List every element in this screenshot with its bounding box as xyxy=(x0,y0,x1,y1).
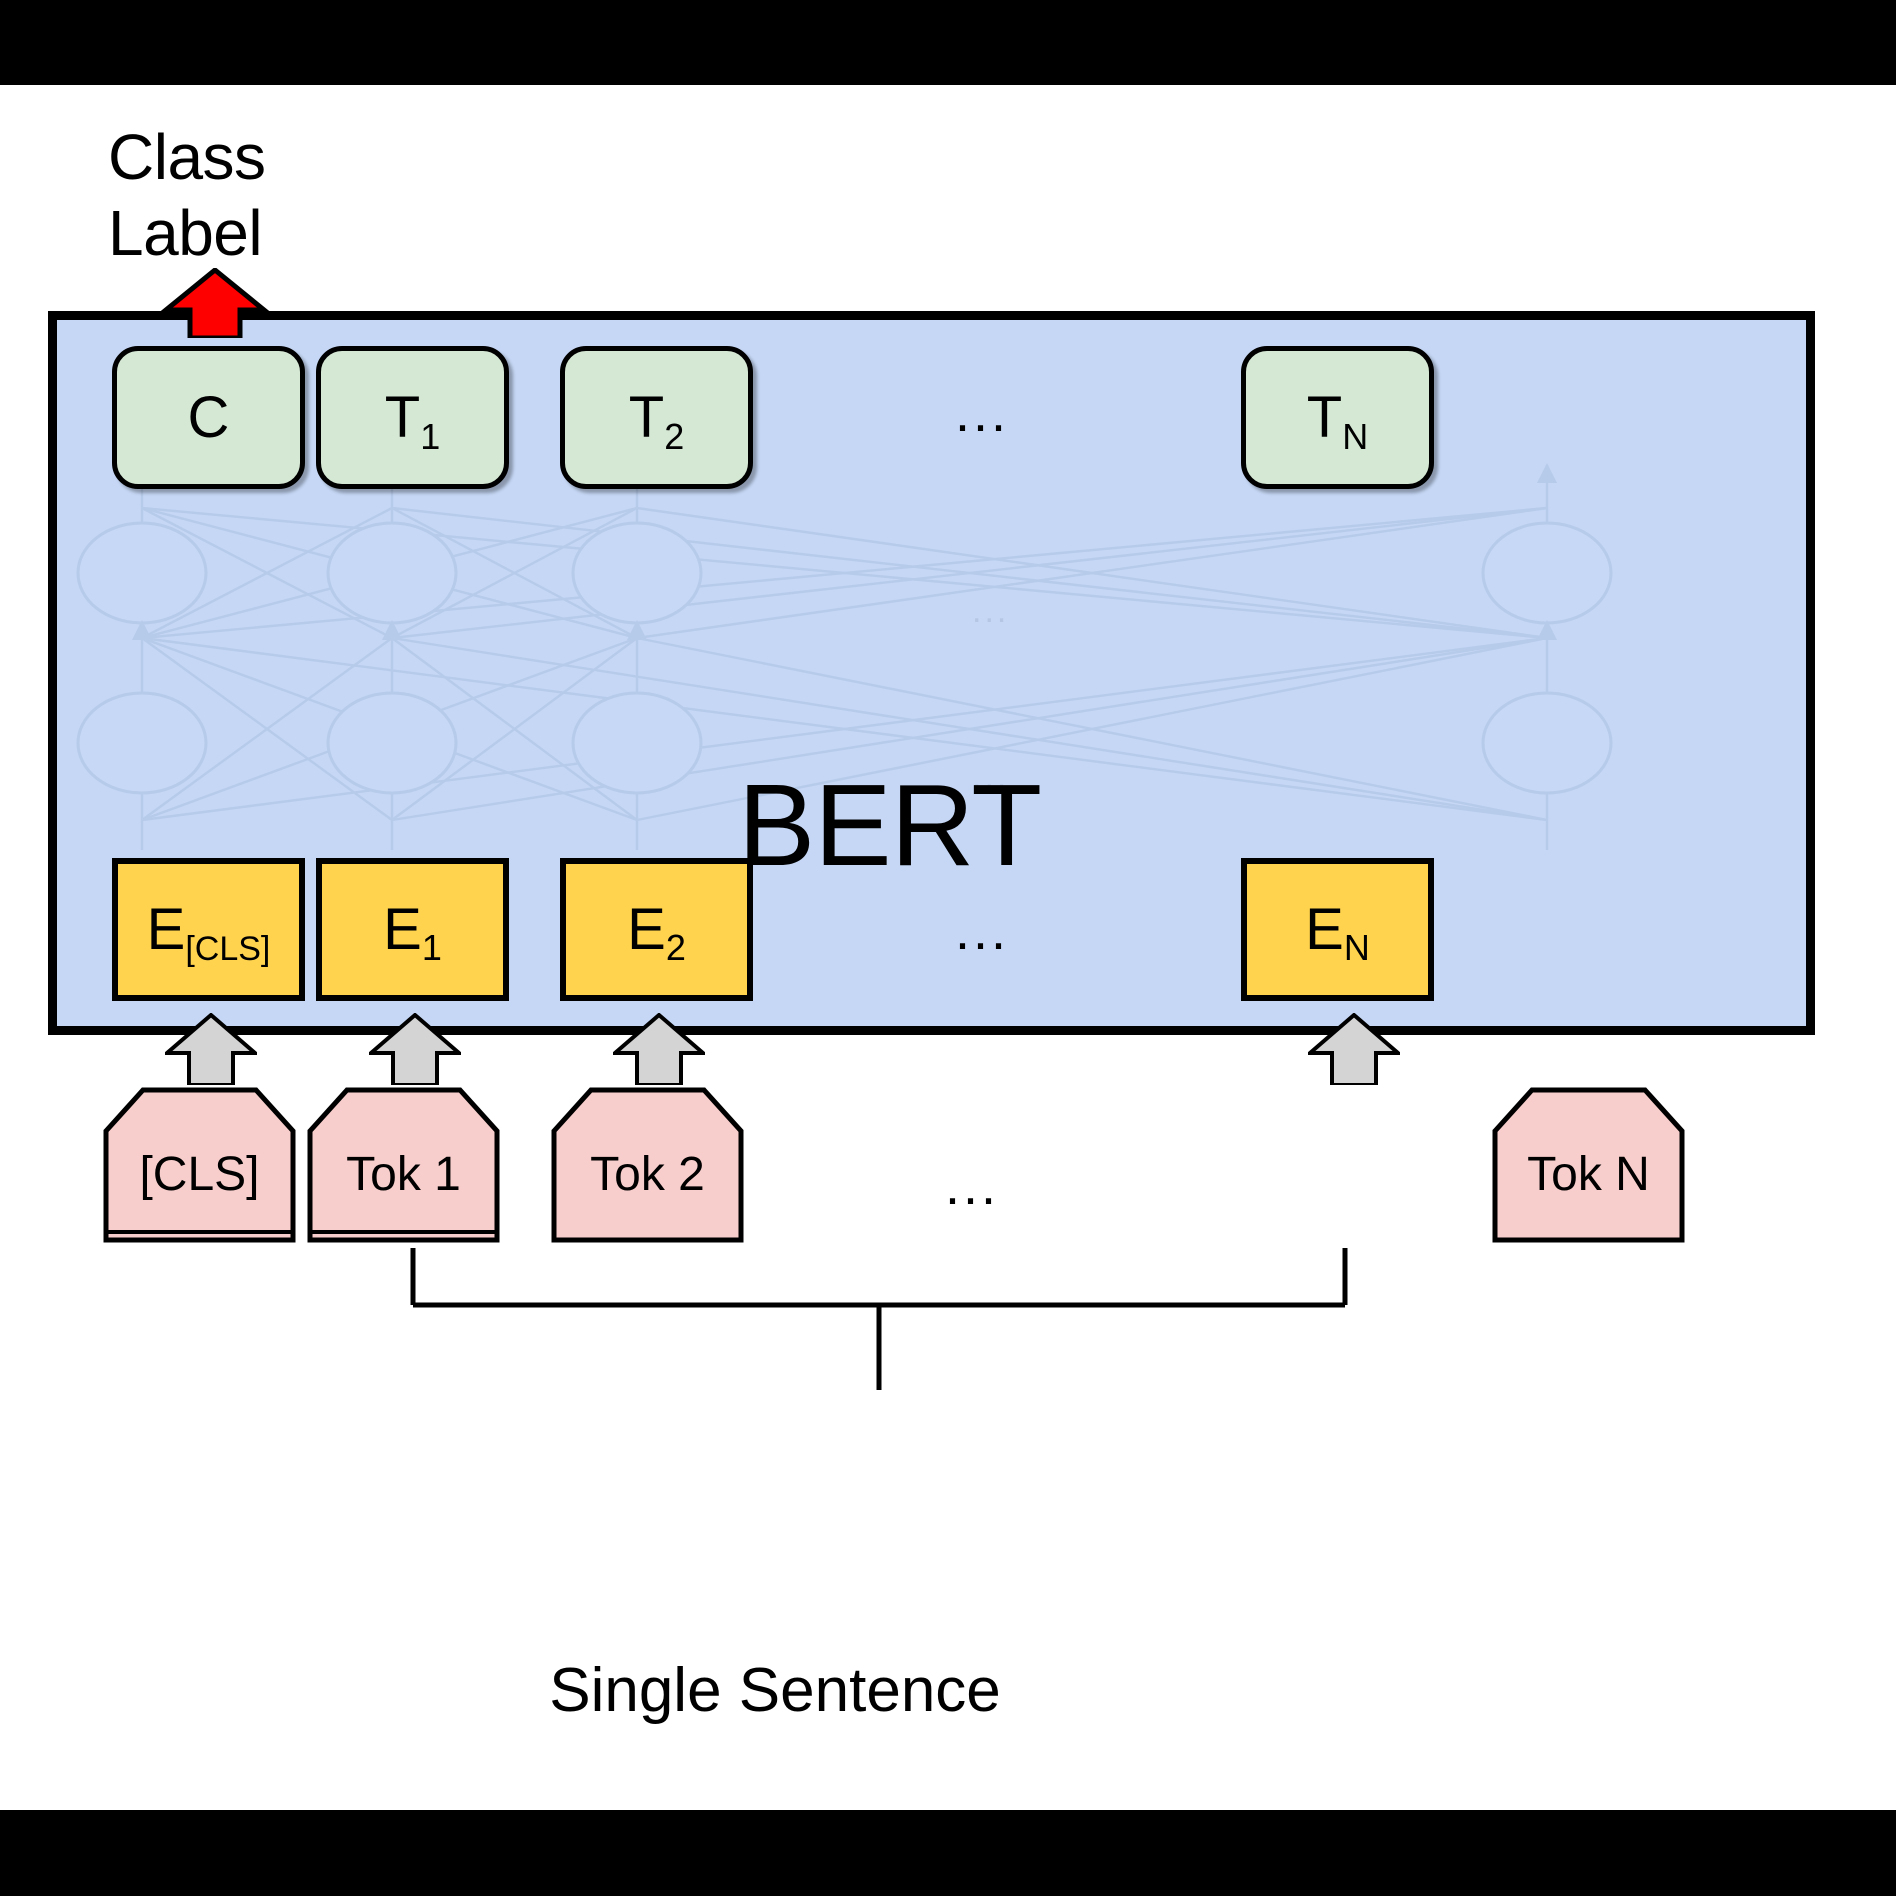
embedding-label-sub: 2 xyxy=(666,927,686,969)
figure-canvas: Class Label xyxy=(0,0,1896,1896)
output-label-base: T xyxy=(629,384,664,451)
class-label-text: Class Label xyxy=(108,120,408,271)
output-box-tn[interactable]: TN xyxy=(1241,346,1434,489)
letterbox-top xyxy=(0,0,1896,85)
letterbox-bottom xyxy=(0,1810,1896,1896)
grey-up-arrow-icon xyxy=(1308,1013,1400,1085)
output-label-sub: 2 xyxy=(664,416,684,458)
output-row-ellipsis: ... xyxy=(955,382,1009,444)
token-row-ellipsis: ... xyxy=(945,1155,999,1217)
network-ellipsis-upper: ... xyxy=(972,592,1009,631)
token-box-cls[interactable]: [CLS] xyxy=(103,1087,296,1243)
output-box-c[interactable]: C xyxy=(112,346,305,489)
token-label: Tok 2 xyxy=(551,1087,744,1243)
embedding-label-base: E xyxy=(147,896,186,963)
token-box-tok2[interactable]: Tok 2 xyxy=(551,1087,744,1243)
embedding-box-e1[interactable]: E1 xyxy=(316,858,509,1001)
grey-up-arrow-icon xyxy=(613,1013,705,1085)
token-label: Tok 1 xyxy=(307,1087,500,1243)
output-box-t1[interactable]: T1 xyxy=(316,346,509,489)
output-label-sub: 1 xyxy=(420,416,440,458)
token-label: [CLS] xyxy=(103,1087,296,1243)
output-label-base: T xyxy=(385,384,420,451)
embedding-label-sub: 1 xyxy=(422,927,442,969)
embedding-box-e2[interactable]: E2 xyxy=(560,858,753,1001)
token-box-tok1[interactable]: Tok 1 xyxy=(307,1087,500,1243)
token-box-tokn[interactable]: Tok N xyxy=(1492,1087,1685,1243)
network-ellipsis-lower: ... xyxy=(972,758,1009,797)
grey-up-arrow-icon xyxy=(369,1013,461,1085)
embedding-label-sub: [CLS] xyxy=(185,930,270,969)
grey-up-arrow-icon xyxy=(165,1013,257,1085)
embedding-label-sub: N xyxy=(1344,927,1370,969)
bert-encoder-panel: BERT C T1 T2 TN ... ... ... E[CLS] E1 E2… xyxy=(48,311,1815,1035)
embedding-box-en[interactable]: EN xyxy=(1241,858,1434,1001)
embedding-label-base: E xyxy=(1305,896,1344,963)
single-sentence-label: Single Sentence xyxy=(0,1655,1550,1726)
output-box-t2[interactable]: T2 xyxy=(560,346,753,489)
embedding-box-cls[interactable]: E[CLS] xyxy=(112,858,305,1001)
output-label-sub: N xyxy=(1342,416,1368,458)
output-label-base: C xyxy=(188,384,230,451)
red-up-arrow-icon xyxy=(160,268,270,338)
token-label: Tok N xyxy=(1492,1087,1685,1243)
embedding-label-base: E xyxy=(627,896,666,963)
embedding-label-base: E xyxy=(383,896,422,963)
embedding-row-ellipsis: ... xyxy=(955,900,1009,962)
output-label-base: T xyxy=(1307,384,1342,451)
